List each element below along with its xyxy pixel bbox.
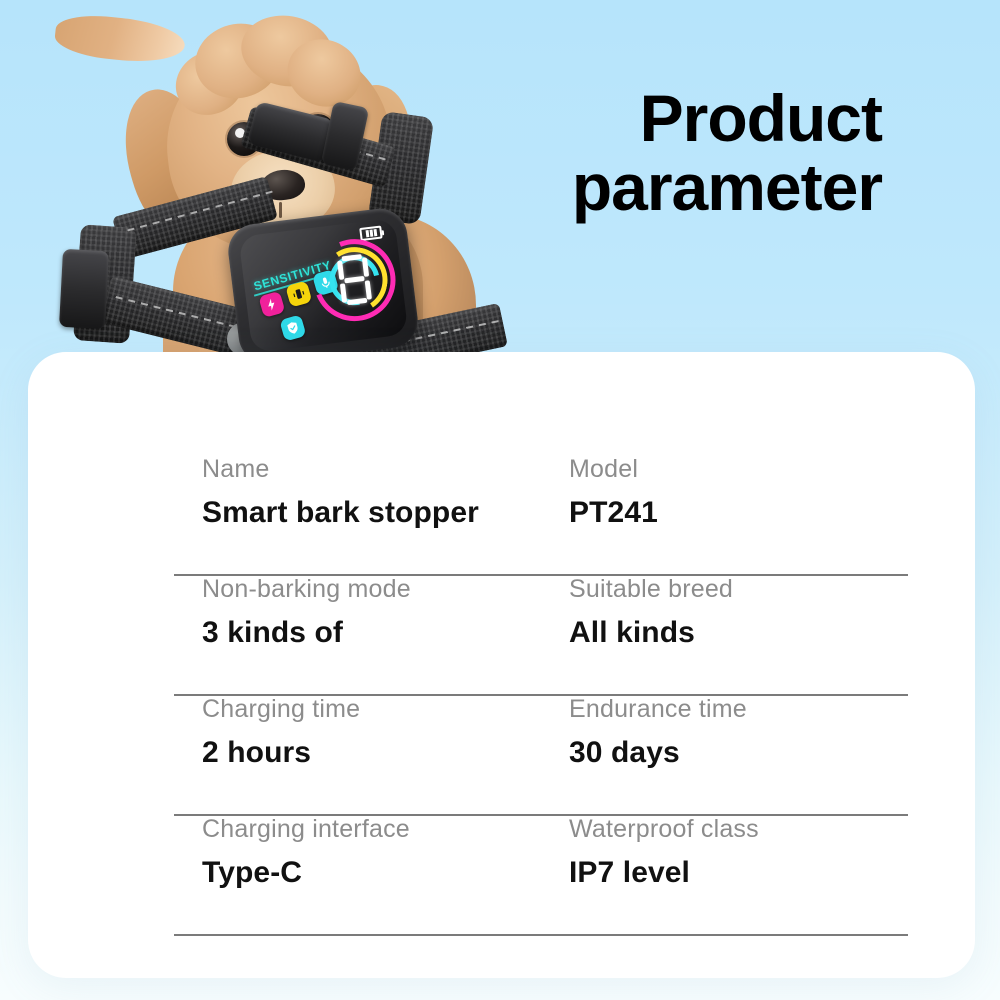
spec-cell-left: Charging time 2 hours bbox=[174, 696, 541, 769]
vibration-icon bbox=[290, 285, 307, 302]
device-screen: SENSITIVITY bbox=[238, 218, 408, 353]
table-row: Name Smart bark stopper Model PT241 bbox=[174, 456, 908, 576]
collar-buckle-left bbox=[59, 249, 109, 329]
shield-check-icon bbox=[284, 319, 301, 336]
level-display bbox=[306, 224, 405, 346]
spec-value: Smart bark stopper bbox=[202, 496, 541, 529]
spec-cell-right: Model PT241 bbox=[541, 456, 908, 529]
spec-label: Model bbox=[569, 456, 908, 484]
spec-value: 2 hours bbox=[202, 736, 541, 769]
spec-cell-left: Non-barking mode 3 kinds of bbox=[174, 576, 541, 649]
spec-label: Name bbox=[202, 456, 541, 484]
specification-table: Name Smart bark stopper Model PT241 Non-… bbox=[174, 456, 908, 936]
spec-cell-left: Charging interface Type-C bbox=[174, 816, 541, 889]
vibration-mode-button[interactable] bbox=[285, 280, 312, 307]
spec-label: Endurance time bbox=[569, 696, 908, 724]
seven-segment-digit bbox=[335, 253, 375, 307]
product-parameter-page: Product parameter bbox=[0, 0, 1000, 1000]
spec-label: Charging interface bbox=[202, 816, 541, 844]
spec-label: Non-barking mode bbox=[202, 576, 541, 604]
specification-card: Name Smart bark stopper Model PT241 Non-… bbox=[28, 352, 975, 978]
spec-label: Suitable breed bbox=[569, 576, 908, 604]
spec-cell-right: Waterproof class IP7 level bbox=[541, 816, 908, 889]
row-divider bbox=[174, 934, 908, 936]
spec-label: Waterproof class bbox=[569, 816, 908, 844]
spec-cell-right: Suitable breed All kinds bbox=[541, 576, 908, 649]
page-title-line-2: parameter bbox=[572, 153, 882, 222]
lightning-bolt-icon bbox=[263, 296, 280, 313]
battery-icon bbox=[359, 225, 382, 241]
spec-value: 3 kinds of bbox=[202, 616, 541, 649]
spec-value: 30 days bbox=[569, 736, 908, 769]
spec-value: Type-C bbox=[202, 856, 541, 889]
table-row: Charging interface Type-C Waterproof cla… bbox=[174, 816, 908, 936]
shock-mode-button[interactable] bbox=[258, 291, 285, 318]
spec-value: All kinds bbox=[569, 616, 908, 649]
spec-cell-left: Name Smart bark stopper bbox=[174, 456, 541, 529]
page-title: Product parameter bbox=[572, 84, 882, 221]
table-row: Charging time 2 hours Endurance time 30 … bbox=[174, 696, 908, 816]
table-row: Non-barking mode 3 kinds of Suitable bre… bbox=[174, 576, 908, 696]
spec-cell-right: Endurance time 30 days bbox=[541, 696, 908, 769]
spec-label: Charging time bbox=[202, 696, 541, 724]
bark-control-device: SENSITIVITY bbox=[225, 206, 421, 367]
spec-value: IP7 level bbox=[569, 856, 908, 889]
page-title-line-1: Product bbox=[640, 81, 882, 155]
safe-mode-button[interactable] bbox=[279, 314, 306, 341]
spec-value: PT241 bbox=[569, 496, 908, 529]
